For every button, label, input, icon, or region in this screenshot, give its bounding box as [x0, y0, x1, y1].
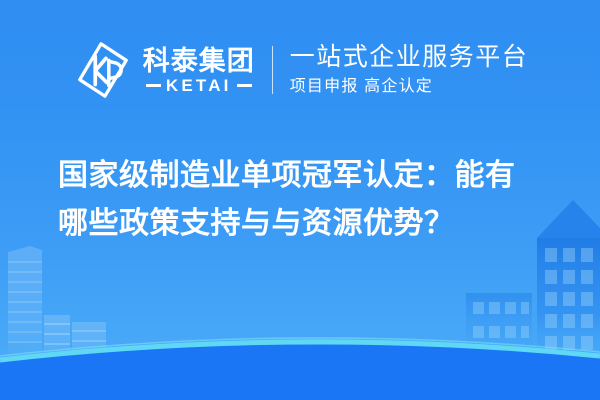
ketai-kp-logo-icon: [72, 39, 134, 101]
left-skyscraper: [8, 246, 42, 356]
header-divider: [272, 46, 273, 94]
tagline-secondary: 项目申报 高企认定: [290, 78, 529, 96]
brand-logo[interactable]: 科泰集团 KETAI: [72, 39, 255, 101]
left-low-block: [44, 315, 106, 358]
page-title-line-1: 国家级制造业单项冠军认定：能有: [58, 152, 542, 200]
logo-wordmark: 科泰集团 KETAI: [143, 47, 255, 94]
logo-company-name-en-row: KETAI: [146, 77, 252, 94]
logo-dash-right-icon: [237, 84, 252, 87]
banner-header: 科泰集团 KETAI 一站式企业服务平台 项目申报 高企认定: [0, 0, 600, 140]
page-title-line-2: 哪些政策支持与与资源优势？: [58, 200, 542, 248]
right-low-block: [466, 293, 532, 359]
logo-dash-left-icon: [146, 84, 161, 87]
page-title: 国家级制造业单项冠军认定：能有 哪些政策支持与与资源优势？: [0, 152, 600, 248]
logo-company-name-cn: 科泰集团: [143, 47, 255, 75]
promo-banner: 科泰集团 KETAI 一站式企业服务平台 项目申报 高企认定 国家级制造业单项冠…: [0, 0, 600, 400]
bottom-curve-band: [0, 338, 600, 400]
logo-company-name-en: KETAI: [166, 77, 232, 94]
header-tagline: 一站式企业服务平台 项目申报 高企认定: [290, 43, 529, 96]
tagline-primary: 一站式企业服务平台: [290, 43, 529, 72]
